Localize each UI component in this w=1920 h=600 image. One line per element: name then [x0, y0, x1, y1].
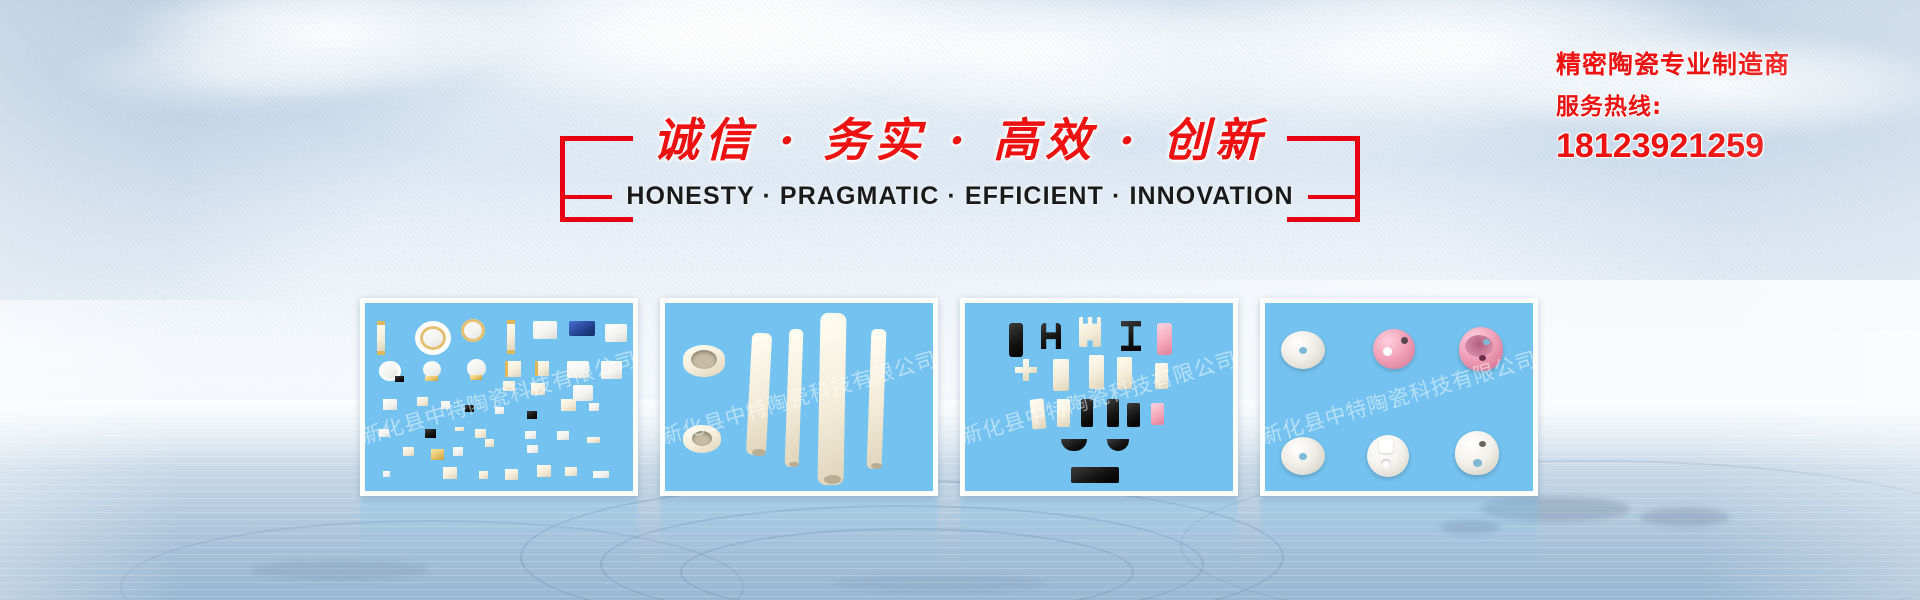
- panel-image-area: 新化县中特陶瓷科技有限公司: [365, 303, 633, 491]
- ceramic-part: [589, 403, 599, 411]
- rule-right-decoration: [1308, 195, 1360, 199]
- ceramic-part: [567, 361, 589, 378]
- ceramic-block: [1127, 403, 1140, 427]
- panel-image-area: 新化县中特陶瓷科技有限公司: [965, 303, 1233, 491]
- ceramic-part: [443, 467, 457, 479]
- slogan-chinese: 诚信 · 务实 · 高效 · 创新: [560, 108, 1360, 172]
- ceramic-rod: [785, 329, 804, 467]
- product-panel-smd-components[interactable]: 新化县中特陶瓷科技有限公司: [360, 298, 638, 496]
- contact-block: 精密陶瓷专业制造商 服务热线: 18123921259: [1556, 48, 1896, 166]
- puddle-shape: [1640, 508, 1730, 526]
- ceramic-part: [403, 447, 414, 456]
- ceramic-cap-bore: [1465, 335, 1493, 357]
- puddle-shape: [1480, 496, 1630, 522]
- rule-left-decoration: [560, 195, 612, 199]
- ceramic-disc-hole: [1381, 459, 1391, 468]
- product-panel-strip: 新化县中特陶瓷科技有限公司: [360, 298, 1538, 496]
- ceramic-part: [525, 431, 536, 439]
- ceramic-part: [377, 321, 385, 355]
- ceramic-block: [1079, 317, 1101, 347]
- ceramic-part: [465, 405, 474, 412]
- headline-block: 诚信 · 务实 · 高效 · 创新 HONESTY · PRAGMATIC · …: [560, 108, 1360, 238]
- ceramic-part: [425, 376, 438, 381]
- ceramic-part: [383, 399, 397, 410]
- ceramic-part: [475, 429, 486, 438]
- ceramic-disc-boss: [1379, 439, 1393, 453]
- ceramic-cap-hole: [1483, 339, 1490, 345]
- ceramic-block: [1089, 355, 1104, 389]
- ceramic-rod: [867, 329, 887, 469]
- ceramic-part: [601, 361, 622, 379]
- ceramic-rod-bore: [871, 463, 882, 469]
- ceramic-part: [533, 321, 557, 339]
- ceramic-part: [379, 429, 389, 437]
- ceramic-block: [1009, 323, 1023, 357]
- ceramic-part: [441, 401, 450, 409]
- ceramic-part: [485, 439, 494, 447]
- ceramic-tube-bore: [752, 449, 766, 456]
- ceramic-part: [605, 324, 627, 342]
- ceramic-rod-bore: [789, 462, 799, 467]
- ceramic-part: [527, 411, 537, 419]
- product-panel-ceramic-blocks[interactable]: 新化县中特陶瓷科技有限公司: [960, 298, 1238, 496]
- ceramic-ring-bore: [691, 350, 717, 369]
- ceramic-block: [1041, 323, 1061, 349]
- ceramic-block: [1155, 363, 1168, 389]
- ceramic-part: [479, 471, 488, 479]
- puddle-shape: [250, 560, 430, 580]
- ceramic-part: [455, 427, 464, 431]
- ceramic-part: [557, 431, 569, 440]
- ceramic-block: [1053, 359, 1069, 391]
- ceramic-part: [505, 469, 518, 480]
- ceramic-cross: [1023, 359, 1029, 381]
- ceramic-block: [1121, 321, 1141, 351]
- ceramic-part: [425, 429, 436, 438]
- ceramic-cap: [1373, 329, 1415, 369]
- ceramic-cap-hole: [1479, 441, 1486, 447]
- ceramic-part: [417, 397, 428, 406]
- hotline-phone-number[interactable]: 18123921259: [1556, 126, 1896, 166]
- ceramic-part: [461, 319, 485, 342]
- promo-banner: 诚信 · 务实 · 高效 · 创新 HONESTY · PRAGMATIC · …: [0, 0, 1920, 600]
- ceramic-part: [505, 361, 521, 377]
- ceramic-disc-hole: [1299, 453, 1307, 460]
- ceramic-tube-bore: [824, 475, 841, 484]
- puddle-shape: [1440, 520, 1500, 534]
- ceramic-cap-hole: [1383, 347, 1392, 356]
- product-panel-ceramic-tubes[interactable]: 新化县中特陶瓷科技有限公司: [660, 298, 938, 496]
- slogan-english-row: HONESTY · PRAGMATIC · EFFICIENT · INNOVA…: [560, 182, 1360, 211]
- ceramic-tube: [746, 333, 772, 456]
- ceramic-block: [1081, 399, 1093, 427]
- ceramic-cap: [1455, 431, 1499, 475]
- panel-image-area: 新化县中特陶瓷科技有限公司: [665, 303, 933, 491]
- ceramic-cap-hole: [1473, 459, 1482, 467]
- ceramic-part: [453, 447, 463, 456]
- ceramic-plate: [1071, 467, 1119, 483]
- puddle-shape: [830, 575, 1050, 593]
- ceramic-part: [395, 376, 404, 382]
- ceramic-part: [593, 471, 609, 478]
- ceramic-tube: [818, 313, 847, 485]
- ceramic-block: [1157, 323, 1172, 355]
- ceramic-part: [561, 399, 576, 411]
- ceramic-part: [495, 407, 504, 414]
- ceramic-part: [587, 437, 600, 443]
- ceramic-block: [1151, 403, 1164, 425]
- ceramic-arc: [1061, 439, 1087, 451]
- ceramic-part: [527, 445, 538, 453]
- company-tagline: 精密陶瓷专业制造商: [1556, 48, 1896, 82]
- ceramic-part: [573, 385, 593, 401]
- ceramic-part: [470, 375, 482, 380]
- ceramic-part: [535, 361, 549, 376]
- ceramic-block: [1107, 399, 1119, 427]
- ceramic-block: [1117, 357, 1132, 389]
- slogan-english: HONESTY · PRAGMATIC · EFFICIENT · INNOVA…: [626, 182, 1293, 211]
- ceramic-disc-hole: [1299, 347, 1307, 354]
- hotline-label: 服务热线:: [1556, 92, 1896, 122]
- ceramic-part: [565, 467, 577, 476]
- ceramic-part: [569, 321, 595, 336]
- ceramic-part: [415, 321, 451, 355]
- ceramic-part: [383, 471, 390, 477]
- ceramic-part: [507, 320, 515, 354]
- ceramic-arc: [1107, 439, 1129, 451]
- ceramic-block: [1029, 398, 1046, 429]
- ceramic-block: [1057, 399, 1070, 427]
- ceramic-part: [503, 381, 515, 391]
- panel-image-area: 新化县中特陶瓷科技有限公司: [1265, 303, 1533, 491]
- ceramic-ring-bore: [692, 431, 712, 446]
- product-panel-ceramic-caps[interactable]: 新化县中特陶瓷科技有限公司: [1260, 298, 1538, 496]
- ceramic-cap-hole: [1401, 337, 1408, 344]
- ceramic-part: [531, 383, 545, 395]
- ceramic-part: [431, 449, 444, 460]
- ceramic-part: [537, 465, 551, 477]
- ceramic-cap-hole: [1479, 355, 1486, 361]
